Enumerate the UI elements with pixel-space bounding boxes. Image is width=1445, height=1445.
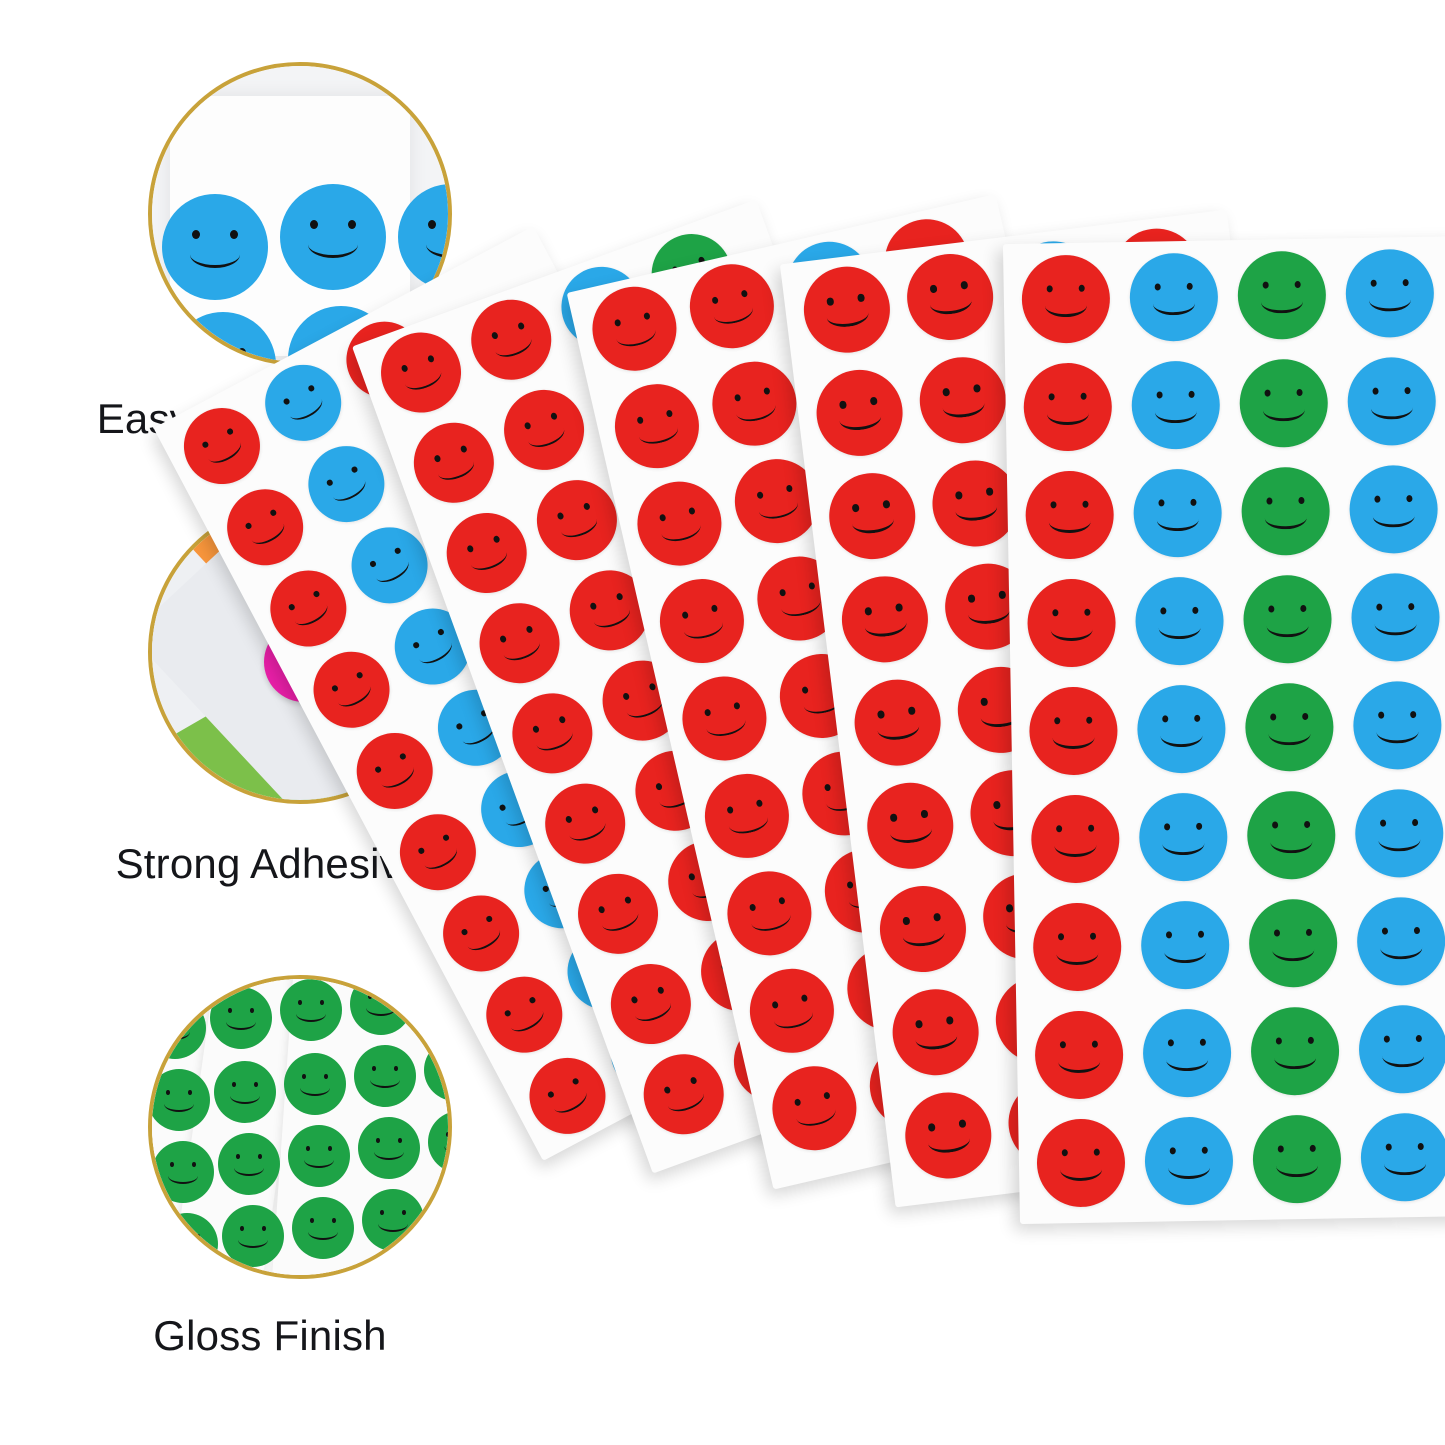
smiley-sticker [1031,794,1121,884]
smiley-mouth [524,419,567,452]
smiley-eye-left [993,801,1000,809]
smiley-eye-left [704,708,712,716]
smiley-mouth [426,231,452,259]
smiley-eye-left [756,491,764,499]
smiley-eye-left [170,1162,175,1167]
sticker-sheet-5 [1003,236,1445,1224]
smiley-mouth [500,632,543,665]
smiley-mouth [420,840,461,875]
smiley-eye-right [1307,1037,1314,1045]
smiley-eye-right [870,397,877,405]
smiley-mouth [1153,292,1196,316]
smiley-eye-right [1089,933,1096,941]
sticker-sheet-fan [500,210,1445,1330]
smiley-mouth [631,993,674,1026]
feature-image-gloss-finish [148,975,452,1279]
smiley-eye-left [794,1098,802,1106]
smiley-mouth [549,1083,590,1118]
smiley-mouth [436,994,452,1010]
smiley-sticker [902,249,998,345]
smiley-sticker [1032,902,1122,992]
smiley-eye-left [1386,1143,1393,1151]
smiley-mouth [328,472,369,507]
smiley-eye-right [1309,1145,1316,1153]
smiley-eye-right [786,484,794,492]
smiley-eye-left [839,401,846,409]
smiley-eye-left [1382,927,1389,935]
smiley-eye-left [240,1226,245,1231]
smiley-eye-right [1201,1147,1208,1155]
smiley-eye-right [961,281,968,289]
smiley-eye-left [1168,1039,1175,1047]
smiley-eye-left [1276,1037,1283,1045]
smiley-sticker [1360,1113,1445,1203]
smiley-mouth [664,1083,707,1116]
smiley-eye-left [1380,819,1387,827]
smiley-eye-right [188,1090,193,1095]
smiley-sticker [343,720,446,823]
smiley-eye-right [1402,279,1409,287]
smiley-mouth [1164,939,1207,963]
smiley-eye-left [1050,501,1057,509]
smiley-eye-left [1274,929,1281,937]
smiley-eye-right [1412,819,1419,827]
smiley-eye-left [228,1008,233,1013]
smiley-eye-left [1170,1147,1177,1155]
smiley-eye-left [310,1218,315,1223]
smiley-eye-right [946,1016,953,1024]
smiley-mouth [1168,1155,1211,1179]
smiley-eye-right [1294,281,1301,289]
smiley-mouth [1270,830,1313,854]
smiley-eye-left [306,1146,311,1151]
smiley-mouth [190,241,241,269]
smiley-sticker [214,476,317,579]
smiley-eye-left [1056,825,1063,833]
smiley-sticker [1023,362,1113,452]
smiley-sticker [1250,1006,1340,1096]
smiley-sticker [1144,1116,1234,1206]
smiley-eye-right [1091,1041,1098,1049]
smiley-sticker [900,1088,996,1184]
smiley-sticker [674,668,775,769]
smiley-sticker [156,1213,218,1275]
smiley-sticker [812,365,908,461]
smiley-eye-right [1302,713,1309,721]
smiley-mouth [198,359,249,366]
smiley-eye-right [1298,497,1305,505]
smiley-mouth [826,302,870,329]
smiley-eye-left [1272,821,1279,829]
smiley-mouth [1272,938,1315,962]
smiley-mouth [226,1014,256,1030]
smiley-mouth [160,1024,190,1040]
smiley-eye-right [1196,823,1203,831]
smiley-eye-left [968,595,975,603]
smiley-eye-left [915,1020,922,1028]
smiley-mouth [415,634,456,669]
smiley-sticker [1247,790,1337,880]
smiley-eye-left [1054,717,1061,725]
smiley-sticker [295,433,398,536]
smiley-sticker [1237,251,1327,341]
smiley-mouth [1162,831,1205,855]
badge-canvas-gloss-finish [152,979,448,1275]
smiley-mouth [296,1006,326,1022]
smiley-eye-left [930,285,937,293]
smiley-eye-right [986,488,993,496]
smiley-eye-right [1082,501,1089,509]
smiley-eye-left [1162,715,1169,723]
smiley-sticker [493,379,596,482]
smiley-eye-right [254,1082,259,1087]
smiley-eye-left [636,416,644,424]
smiley-sticker [218,1133,280,1195]
smiley-eye-left [711,296,719,304]
smiley-mouth [168,1168,198,1184]
smiley-mouth [1052,725,1095,749]
smiley-eye-right [1304,821,1311,829]
smiley-eye-right [857,294,864,302]
smiley-mouth [304,1152,334,1168]
smiley-eye-left [801,686,809,694]
smiley-eye-right [250,1008,255,1013]
smiley-sticker [600,953,703,1056]
smiley-mouth [1378,828,1421,852]
smiley-eye-left [446,1132,451,1137]
smiley-sticker [1029,686,1119,776]
smiley-sticker [824,468,920,564]
smiley-mouth [376,758,417,793]
smiley-eye-left [955,491,962,499]
smiley-sticker [632,1043,735,1146]
smiley-eye-left [368,994,373,999]
smiley-sticker [280,979,342,1041]
smiley-mouth [1274,1046,1317,1070]
smiley-eye-right [1084,609,1091,617]
smiley-eye-right [1408,603,1415,611]
sticker-grid-5 [1003,236,1445,1224]
smiley-sticker [222,1205,284,1267]
smiley-mouth [967,599,1011,626]
smiley-sticker [460,288,563,391]
smiley-sticker [534,772,637,875]
smiley-eye-left [442,1060,447,1065]
smiley-mouth [590,599,633,632]
smiley-eye-right [908,707,915,715]
smiley-sticker [1239,359,1329,449]
smiley-sticker [152,1141,214,1203]
smiley-eye-left [827,298,834,306]
smiley-eye-left [1048,393,1055,401]
smiley-mouth [506,1002,547,1037]
smiley-eye-left [726,806,734,814]
smiley-eye-left [1047,285,1054,293]
smiley-mouth [463,921,504,956]
smiley-mouth [915,1025,959,1052]
smiley-eye-right [1199,1039,1206,1047]
smiley-mouth [378,1216,408,1232]
smiley-eye-left [1264,389,1271,397]
smiley-eye-right [1194,715,1201,723]
smiley-sticker [1135,576,1225,666]
smiley-sticker [1027,578,1117,668]
smiley-eye-right [808,581,816,589]
smiley-mouth [467,542,510,575]
smiley-eye-left [865,607,872,615]
smiley-eye-left [232,1082,237,1087]
smiley-mouth [566,813,609,846]
smiley-mouth [1276,1154,1319,1178]
smiley-sticker [468,592,571,695]
smiley-mouth [204,433,245,468]
smiley-eye-left [1158,499,1165,507]
smiley-eye-left [1370,280,1377,288]
smiley-mouth [1263,398,1306,422]
smiley-mouth [929,289,973,316]
smiley-mouth [374,1144,404,1160]
smiley-mouth [864,612,908,639]
smiley-eye-left [1374,496,1381,504]
smiley-sticker [704,353,805,454]
smiley-eye-left [1266,497,1273,505]
smiley-eye-left [236,1154,241,1159]
smiley-sticker [915,352,1011,448]
smiley-mouth [290,596,331,631]
smiley-mouth [1380,936,1423,960]
smiley-sticker [162,194,268,300]
smiley-eye-left [298,1000,303,1005]
smiley-eye-right [1190,499,1197,507]
smiley-sticker [1133,468,1223,558]
smiley-mouth [889,818,933,845]
smiley-eye-left [1060,1041,1067,1049]
smiley-eye-right [398,1138,403,1143]
smiley-eye-right [711,604,719,612]
smiley-eye-left [302,1074,307,1079]
smiley-mouth [1158,615,1201,639]
smiley-mouth [1382,1044,1425,1068]
smiley-sticker [1131,360,1221,450]
smiley-mouth [1376,720,1419,744]
smiley-sticker [1139,792,1229,882]
feature-caption-gloss-finish: Gloss Finish [0,1312,540,1360]
smiley-eye-right [1197,931,1204,939]
smiley-sticker [1252,1114,1342,1204]
smiley-sticker [1243,574,1333,664]
smiley-sticker [1025,470,1115,560]
smiley-eye-right [1093,1149,1100,1157]
smiley-eye-right [1296,389,1303,397]
smiley-sticker [300,638,403,741]
smiley-mouth [557,509,600,542]
smiley-eye-left [614,318,622,326]
smiley-eye-right [1186,283,1193,291]
smiley-mouth [1054,833,1097,857]
smiley-eye-right [973,384,980,392]
smiley-sticker [1036,1118,1126,1208]
smiley-mouth [902,921,946,948]
smiley-sticker [1355,789,1445,879]
smiley-mouth [1047,401,1090,425]
smiley-mouth [1374,612,1417,636]
smiley-eye-left [1278,1145,1285,1153]
smiley-eye-right [895,603,902,611]
smiley-sticker [719,863,820,964]
smiley-sticker [516,1045,619,1148]
smiley-sticker [171,395,274,498]
smiley-eye-right [801,994,809,1002]
smiley-mouth [234,1160,264,1176]
smiley-eye-left [903,917,910,925]
smiley-sticker [1034,1010,1124,1100]
smiley-eye-left [1166,931,1173,939]
smiley-mouth [838,405,882,432]
smiley-sticker [1248,898,1338,988]
smiley-sticker [210,987,272,1049]
smiley-sticker [501,682,604,785]
smiley-eye-left [450,1204,453,1209]
smiley-eye-left [310,220,318,229]
smiley-eye-left [877,710,884,718]
smiley-eye-left [1262,281,1269,289]
smiley-eye-left [852,504,859,512]
smiley-eye-left [438,988,443,993]
smiley-eye-left [1052,609,1059,617]
smiley-sticker [1345,249,1435,339]
smiley-mouth [1264,506,1307,530]
smiley-eye-right [763,386,771,394]
smiley-mouth [1045,293,1088,317]
smiley-eye-right [1086,717,1093,725]
smiley-sticker [284,1053,346,1115]
smiley-eye-right [332,1218,337,1223]
smiley-eye-right [394,1066,399,1071]
smiley-eye-right [192,1162,197,1167]
smiley-eye-right [756,799,764,807]
smiley-mouth [448,1210,452,1226]
smiley-sticker [1351,573,1441,663]
smiley-eye-left [376,1138,381,1143]
smiley-mouth [1268,722,1311,746]
smiley-eye-left [1270,713,1277,721]
smiley-mouth [230,1088,260,1104]
smiley-mouth [308,1224,338,1240]
smiley-eye-right [643,312,651,320]
smiley-eye-left [380,1210,385,1215]
smiley-mouth [851,508,895,535]
smiley-mouth [401,361,444,394]
smiley-mouth [285,390,326,425]
smiley-sticker [799,262,895,358]
smiley-eye-right [238,348,246,357]
smiley-sticker [387,801,490,904]
smiley-sticker [584,278,685,379]
smiley-sticker [1347,357,1437,447]
smiley-eye-left [174,1234,179,1239]
smiley-mouth [1060,1157,1103,1181]
smiley-eye-left [166,1090,171,1095]
smiley-mouth [942,393,986,420]
smiley-sticker [370,321,473,424]
smiley-eye-right [1406,495,1413,503]
smiley-sticker [862,778,958,874]
smiley-eye-right [666,409,674,417]
smiley-eye-left [192,230,200,239]
smiley-mouth [172,1240,202,1256]
smiley-eye-left [1006,904,1013,912]
smiley-eye-right [823,1091,831,1099]
smiley-sticker [1140,900,1230,990]
smiley-sticker [1349,465,1439,555]
smiley-mouth [440,1066,452,1082]
smiley-eye-right [320,1000,325,1005]
smiley-sticker [257,557,360,660]
smiley-eye-left [1154,283,1161,291]
smiley-mouth [533,722,576,755]
smiley-eye-left [1384,1035,1391,1043]
smiley-mouth [164,1096,194,1112]
smiley-mouth [927,1128,971,1155]
smiley-mouth [954,496,998,523]
smiley-sticker [682,256,783,357]
smiley-eye-right [1413,927,1420,935]
smiley-sticker [1358,1005,1445,1095]
smiley-eye-left [1062,1149,1069,1157]
smiley-eye-left [890,814,897,822]
smiley-eye-right [348,220,356,229]
smiley-eye-left [1376,603,1383,611]
smiley-mouth [598,903,641,936]
smiley-sticker [652,571,753,672]
smiley-eye-right [230,230,238,239]
smiley-eye-left [1164,823,1171,831]
smiley-eye-left [846,880,854,888]
smiley-sticker [1245,682,1335,772]
smiley-eye-left [1378,711,1385,719]
smiley-sticker [697,766,798,867]
smiley-sticker [288,1125,350,1187]
smiley-eye-right [1192,607,1199,615]
smiley-eye-left [1268,605,1275,613]
smiley-sticker [875,881,971,977]
smiley-sticker [403,411,506,514]
smiley-sticker [837,571,933,667]
smiley-sticker [1021,254,1111,344]
smiley-sticker [1356,897,1445,987]
smiley-mouth [1056,941,1099,965]
smiley-eye-left [749,903,757,911]
smiley-eye-right [324,1074,329,1079]
smiley-mouth [371,553,412,588]
smiley-mouth [1166,1047,1209,1071]
smiley-eye-right [1080,393,1087,401]
smiley-mouth [1160,723,1203,747]
smiley-mouth [1050,617,1093,641]
smiley-sticker [430,882,533,985]
smiley-eye-right [402,1210,407,1215]
smiley-eye-right [959,1120,966,1128]
smiley-sticker [629,473,730,574]
smiley-mouth [238,1232,268,1248]
smiley-mouth [370,1072,400,1088]
smiley-sticker [567,863,670,966]
smiley-sticker [362,1189,424,1251]
smiley-sticker [280,184,386,290]
smiley-eye-left [734,393,742,401]
smiley-eye-left [824,783,832,791]
smiley-eye-left [981,698,988,706]
